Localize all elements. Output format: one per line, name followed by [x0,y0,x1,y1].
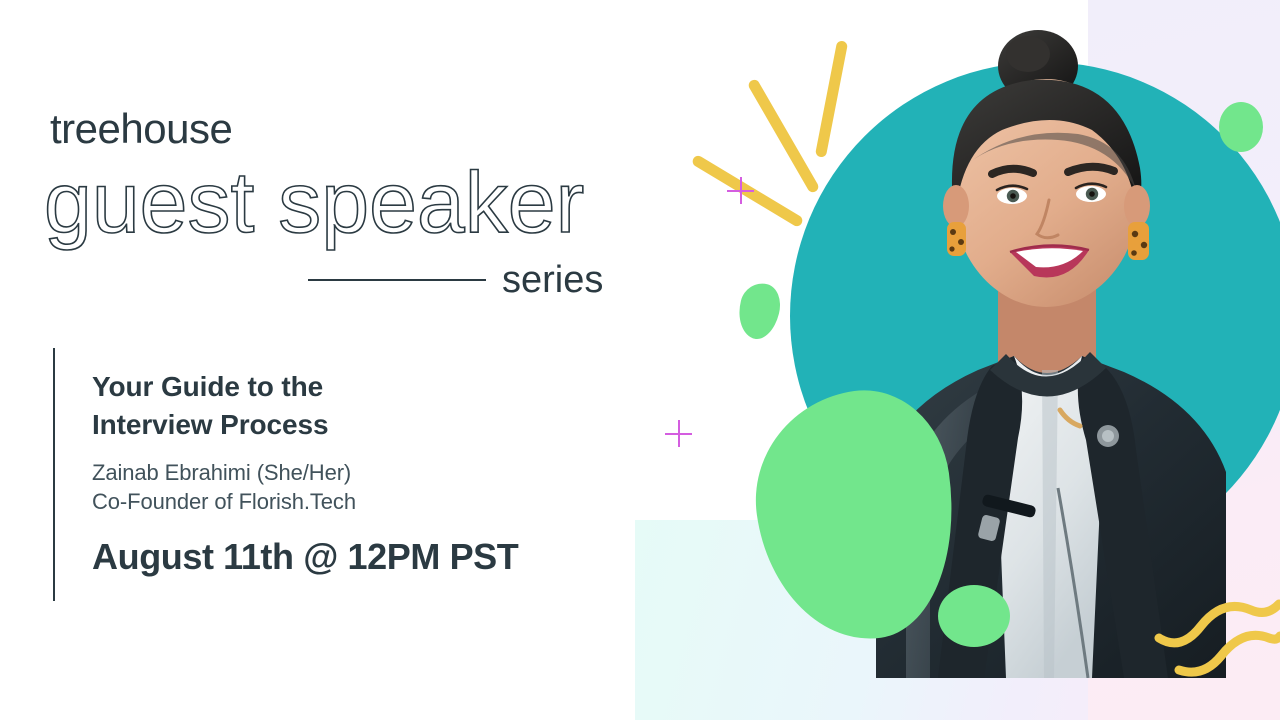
yellow-wavy-lines [1155,560,1280,680]
page-title: guest speaker [44,160,584,246]
pink-cross-lower-icon [665,420,692,447]
session-details: Your Guide to the Interview Process Zain… [92,368,612,575]
speaker-role: Co-Founder of Florish.Tech [92,487,612,516]
series-label: series [502,261,603,299]
pink-cross-upper-icon [727,177,754,204]
treehouse-wordmark: treehouse [50,108,232,150]
green-circle-bottom [938,585,1010,647]
vertical-accent-rule [53,348,55,601]
talk-title-line-2: Interview Process [92,406,612,444]
series-row: series [308,258,628,302]
presentation-slide: treehouse guest speaker series Your Guid… [0,0,1280,720]
session-datetime: August 11th @ 12PM PST [92,539,612,575]
series-divider [308,279,486,281]
talk-title-line-1: Your Guide to the [92,368,612,406]
green-blob-small [733,279,785,343]
speaker-name: Zainab Ebrahimi (She/Her) [92,458,612,487]
